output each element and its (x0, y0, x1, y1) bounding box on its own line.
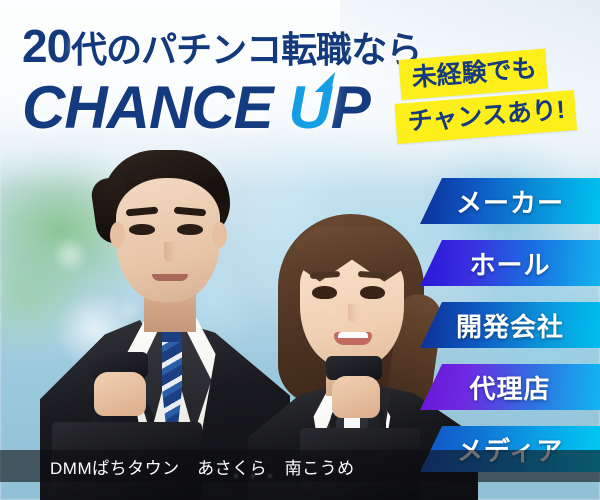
man-nose (164, 242, 176, 262)
menu-item-hall[interactable]: ホール (420, 240, 600, 286)
woman-eye-left (312, 286, 337, 299)
woman-hand (332, 376, 380, 418)
ad-banner[interactable]: 20代のパチンコ転職なら CHANCE UP 未経験でも チャンスあり! メーカ… (0, 0, 600, 500)
logo-letter-p: P (331, 74, 370, 141)
woman-nose (348, 304, 358, 322)
man-eye-left (129, 224, 155, 235)
menu-item-developer-label: 開発会社 (456, 307, 564, 344)
logo-word-chance: CHANCE (22, 74, 273, 141)
man-mouth (152, 274, 188, 281)
menu-item-maker-label: メーカー (456, 183, 564, 220)
woman-teeth (338, 332, 368, 338)
menu-item-agency[interactable]: 代理店 (420, 364, 600, 410)
man-ear-right (212, 222, 227, 248)
menu-item-developer[interactable]: 開発会社 (420, 302, 600, 348)
promo-badge-line-1: 未経験でも (398, 49, 548, 100)
logo-letter-u: U (288, 74, 330, 142)
man-hand (94, 372, 146, 416)
menu-item-hall-label: ホール (469, 245, 550, 282)
promo-badge: 未経験でも チャンスあり! (396, 56, 596, 156)
headline-number: 20 (22, 20, 71, 72)
woman-eye-right (360, 286, 385, 299)
menu-item-maker[interactable]: メーカー (420, 178, 600, 224)
logo-chance-up: CHANCE UP (22, 74, 370, 142)
man-ear-left (110, 222, 125, 248)
caption-bar: DMMぱちタウン あさくら 南こうめ (0, 450, 600, 482)
headline-mid: 代のパチンコ転職 (71, 29, 351, 70)
man-eye-right (177, 224, 203, 235)
caption-text: DMMぱちタウン あさくら 南こうめ (0, 454, 355, 479)
category-menu: メーカー ホール 開発会社 代理店 メディア (420, 178, 600, 488)
menu-item-agency-label: 代理店 (469, 369, 550, 406)
man-face (116, 178, 220, 302)
